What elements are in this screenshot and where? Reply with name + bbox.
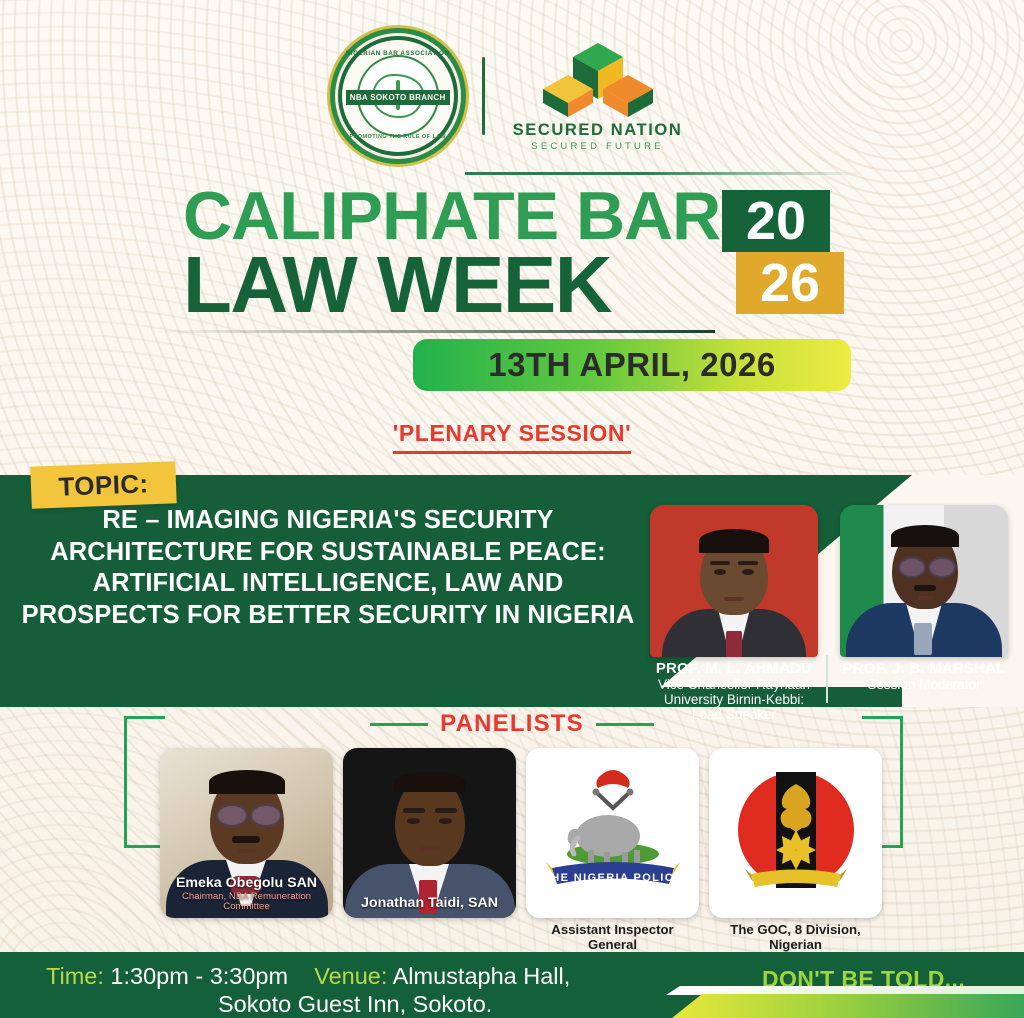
eye-left — [714, 569, 726, 575]
year-badge-26: 26 — [736, 252, 844, 314]
seal-top-text: NIGERIAN BAR ASSOCIATION — [342, 50, 454, 57]
nba-sokoto-branch-logo: NIGERIAN BAR ASSOCIATION NBA SOKOTO BRAN… — [342, 40, 454, 152]
title-line-2: LAW WEEK — [183, 245, 611, 325]
year-badge-20: 20 — [722, 190, 830, 252]
brow-left — [710, 561, 730, 565]
title-top-rule — [465, 172, 863, 175]
secured-nation-logo: SECURED NATION SECURED FUTURE — [513, 41, 683, 152]
nigerian-army-crest-icon — [709, 748, 882, 918]
footer-details: Time: 1:30pm - 3:30pm Venue: Almustapha … — [46, 962, 646, 1018]
eye-left — [407, 818, 420, 824]
panelist-role: Chairman, NBA Remuneration Committee — [160, 892, 333, 912]
footer-line-1: Time: 1:30pm - 3:30pm Venue: Almustapha … — [46, 962, 646, 990]
glasses-right-lens — [928, 557, 956, 578]
brow-right — [435, 808, 457, 813]
cubes-icon — [535, 41, 661, 119]
panelist-photo-obegolu: Emeka Obegolu SAN Chairman, NBA Remunera… — [160, 748, 333, 918]
topic-text: RE – IMAGING NIGERIA'S SECURITY ARCHITEC… — [18, 505, 638, 631]
panelist-name: Jonathan Taidi, SAN — [343, 896, 516, 911]
speaker-photo-ahmadu — [650, 505, 818, 657]
eye-right — [439, 818, 452, 824]
plenary-session-heading: 'PLENARY SESSION' — [0, 420, 1024, 454]
hair — [699, 529, 769, 553]
tie — [914, 623, 932, 655]
title-bottom-rule — [150, 330, 715, 333]
plenary-session-text: 'PLENARY SESSION' — [393, 420, 631, 454]
speaker-name: PROF. M. L. AHMADU — [638, 661, 830, 677]
panelist-card: THE NIGERIA POLICE Assistant Inspector G… — [526, 748, 699, 967]
time-value: 1:30pm - 3:30pm — [110, 963, 288, 989]
year-bottom-text: 26 — [760, 256, 820, 310]
panelist-card: Emeka Obegolu SAN Chairman, NBA Remunera… — [160, 748, 333, 918]
heading-rule-left — [370, 723, 428, 726]
bracket-left — [124, 716, 165, 848]
event-date-badge: 13TH APRIL, 2026 — [413, 339, 851, 391]
hair — [394, 772, 466, 792]
moustache — [914, 585, 936, 591]
secured-nation-tagline: SECURED FUTURE — [531, 141, 663, 152]
tie — [726, 631, 742, 657]
speaker-card-lead: PROF. M. L. AHMADU Vice Chancellor Rayha… — [650, 505, 830, 723]
venue-value: Almustapha Hall, — [393, 963, 571, 989]
panelist-crest-police: THE NIGERIA POLICE — [526, 748, 699, 918]
panelists-heading-text: PANELISTS — [440, 710, 584, 738]
speaker-caption-moderator: PROF. J. B. MARSHAL Session Moderator — [828, 661, 1020, 692]
flyer-canvas: NIGERIAN BAR ASSOCIATION NBA SOKOTO BRAN… — [0, 0, 1024, 1018]
topic-tag-text: TOPIC: — [58, 468, 149, 502]
secured-nation-name: SECURED NATION — [513, 121, 683, 140]
glasses-left-lens — [898, 557, 926, 578]
svg-text:THE NIGERIA POLICE: THE NIGERIA POLICE — [543, 872, 683, 884]
speaker-name: PROF. J. B. MARSHAL — [828, 661, 1020, 677]
footer-line-2: Sokoto Guest Inn, Sokoto. — [46, 990, 646, 1018]
seal-bottom-text: PROMOTING THE RULE OF LAW — [342, 134, 454, 140]
logo-divider — [482, 57, 485, 135]
brow-left — [403, 808, 425, 813]
panelist-card: Jonathan Taidi, SAN — [343, 748, 516, 918]
mouth — [238, 849, 256, 853]
brow-right — [738, 561, 758, 565]
time-label: Time: — [46, 963, 104, 989]
speaker-card-moderator: PROF. J. B. MARSHAL Session Moderator — [840, 505, 1020, 692]
speaker-role-line-2: University Birnin-Kebbi: — [638, 693, 830, 707]
panelist-crest-army — [709, 748, 882, 918]
ribbon-accent — [672, 994, 1024, 1018]
event-date-text: 13TH APRIL, 2026 — [488, 346, 775, 384]
topic-tag: TOPIC: — [30, 461, 177, 509]
speaker-photo-marshal — [840, 505, 1008, 657]
seal-band: NBA SOKOTO BRANCH — [346, 90, 450, 105]
seal-band-text: NBA SOKOTO BRANCH — [350, 93, 446, 102]
hair — [891, 525, 959, 547]
nigeria-police-crest-icon: THE NIGERIA POLICE — [526, 748, 699, 918]
mouth — [918, 596, 933, 600]
eye-right — [742, 569, 754, 575]
glasses-right-lens — [250, 804, 282, 827]
venue-label: Venue: — [314, 963, 387, 989]
speaker-role-line-1: Session Moderator — [828, 678, 1020, 692]
panelist-overlay-caption: Jonathan Taidi, SAN — [343, 896, 516, 912]
logo-row: NIGERIAN BAR ASSOCIATION NBA SOKOTO BRAN… — [0, 36, 1024, 156]
panelist-card: The GOC, 8 Division, Nigerian Army Headq… — [709, 748, 882, 982]
moustache — [232, 836, 260, 843]
glasses-left-lens — [216, 804, 248, 827]
panelist-overlay-caption: Emeka Obegolu SAN Chairman, NBA Remunera… — [160, 876, 333, 912]
hair — [209, 770, 285, 794]
panelist-photo-taidi: Jonathan Taidi, SAN — [343, 748, 516, 918]
panelist-caption-line-1: The GOC, 8 Division, Nigerian — [709, 922, 882, 952]
panelist-caption-line-1: Assistant Inspector General — [526, 922, 699, 952]
ribbon-highlight — [666, 986, 1024, 995]
panelist-name: Emeka Obegolu SAN — [160, 876, 333, 891]
year-top-text: 20 — [746, 194, 806, 248]
mouth — [419, 846, 441, 851]
speaker-role-line-1: Vice Chancellor Rayhaan — [638, 678, 830, 692]
heading-rule-right — [596, 723, 654, 726]
mouth — [724, 597, 744, 601]
